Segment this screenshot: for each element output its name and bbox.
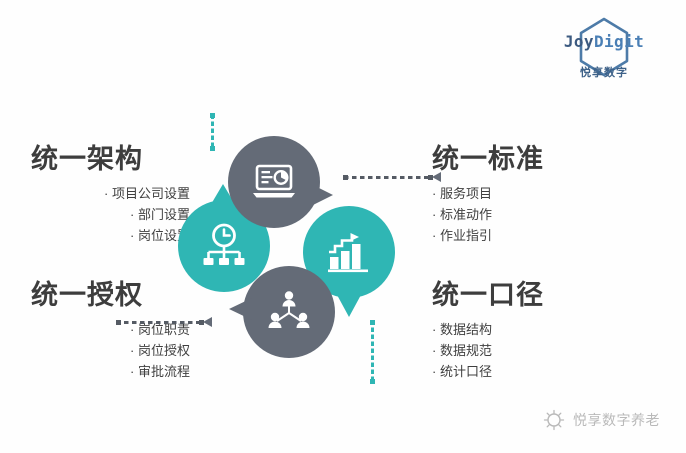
- top-connector: [211, 115, 214, 149]
- brand-word-digit: Digit: [594, 32, 644, 51]
- block-caliber-list: 数据结构 数据规范 统计口径: [432, 319, 544, 382]
- laptop-pie-chart-icon: [251, 162, 297, 202]
- bottom-connector: [371, 322, 374, 382]
- center-diagram: [175, 118, 410, 383]
- block-architecture: 统一架构 项目公司设置 部门设置 岗位设置: [30, 145, 190, 246]
- bubble-bottom[interactable]: [243, 266, 335, 358]
- bubble-tail: [336, 293, 362, 317]
- slide-canvas: JoyDigit 悦享数字 统一架构 项目公司设置 部门设置 岗位设置 统一授权…: [0, 0, 686, 453]
- list-item: 数据结构: [432, 319, 544, 340]
- block-authorization-list: 岗位职责 岗位授权 审批流程: [30, 319, 190, 382]
- list-item: 统计口径: [432, 361, 544, 382]
- block-standard-list: 服务项目 标准动作 作业指引: [432, 183, 544, 246]
- list-item: 项目公司设置: [30, 183, 190, 204]
- right-connector: [345, 176, 431, 179]
- list-item: 作业指引: [432, 225, 544, 246]
- arrow-head-icon: [432, 172, 441, 182]
- connector-cap: [116, 320, 121, 325]
- list-item: 标准动作: [432, 204, 544, 225]
- list-item: 岗位授权: [30, 340, 190, 361]
- watermark-text: 悦享数字养老: [573, 410, 660, 430]
- block-standard-heading: 统一标准: [432, 145, 544, 175]
- connector-cap: [428, 175, 433, 180]
- watermark: 悦享数字养老: [543, 409, 660, 431]
- brand-wordmark: JoyDigit: [564, 32, 644, 51]
- block-architecture-heading: 统一架构: [30, 145, 190, 175]
- bar-chart-growth-icon: [326, 231, 372, 273]
- list-item: 岗位设置: [30, 225, 190, 246]
- list-item: 审批流程: [30, 361, 190, 382]
- connector-cap: [370, 320, 375, 325]
- brand-word-joy: Joy: [564, 32, 594, 51]
- people-hierarchy-icon: [266, 290, 312, 334]
- connector-cap: [343, 175, 348, 180]
- block-standard: 统一标准 服务项目 标准动作 作业指引: [432, 145, 544, 246]
- connector-cap: [199, 320, 204, 325]
- clock-org-tree-icon: [200, 223, 248, 269]
- arrow-head-icon: [203, 317, 212, 327]
- list-item: 服务项目: [432, 183, 544, 204]
- block-authorization: 统一授权 岗位职责 岗位授权 审批流程: [30, 281, 190, 382]
- brand-chinese-name: 悦享数字: [580, 64, 628, 80]
- connector-cap: [370, 379, 375, 384]
- block-caliber-heading: 统一口径: [432, 281, 544, 311]
- list-item: 数据规范: [432, 340, 544, 361]
- sun-circle-icon: [543, 409, 565, 431]
- bubble-tail: [229, 298, 252, 320]
- list-item: 部门设置: [30, 204, 190, 225]
- connector-cap: [210, 113, 215, 118]
- block-architecture-list: 项目公司设置 部门设置 岗位设置: [30, 183, 190, 246]
- block-authorization-heading: 统一授权: [30, 281, 190, 311]
- bubble-tail: [311, 184, 333, 206]
- left-connector: [118, 321, 202, 324]
- brand-logo: JoyDigit 悦享数字: [556, 14, 652, 84]
- bubble-top[interactable]: [228, 136, 320, 228]
- connector-cap: [210, 146, 215, 151]
- block-caliber: 统一口径 数据结构 数据规范 统计口径: [432, 281, 544, 382]
